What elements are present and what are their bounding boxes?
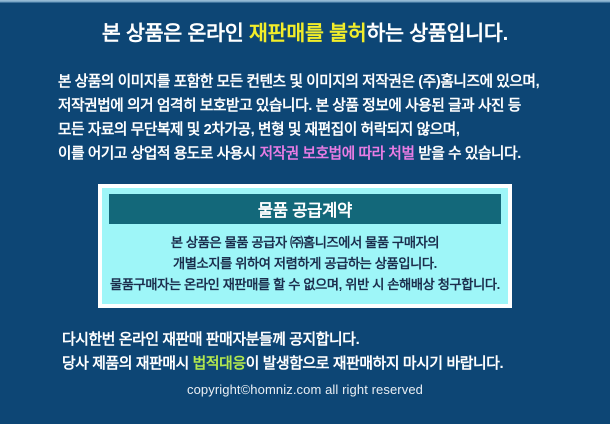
contract-body: 본 상품은 물품 공급자 ㈜홈니즈에서 물품 구매자의 개별소지를 위하여 저렴… [109, 232, 501, 295]
contract-title-bar: 물품 공급계약 [109, 194, 501, 224]
copyright-paragraph-line-4: 이를 어기고 상업적 용도로 사용시 저작권 보호법에 따라 처벌 받을 수 있… [58, 142, 558, 166]
closing-notice: 다시한번 온라인 재판매 판매자분들께 공지합니다. 당사 제품의 재판매시 법… [62, 328, 562, 376]
closing-notice-highlight: 법적대응 [193, 356, 246, 372]
top-divider-rule [0, 0, 610, 3]
closing-notice-line-2: 당사 제품의 재판매시 법적대응이 발생함으로 재판매하지 마시기 바랍니다. [62, 352, 562, 376]
page-headline: 본 상품은 온라인 재판매를 불허하는 상품입니다. [0, 20, 610, 48]
contract-title: 물품 공급계약 [258, 197, 352, 221]
paragraph-line-4-highlight: 저작권 보호법에 따라 처벌 [260, 146, 415, 162]
closing-notice-line-1: 다시한번 온라인 재판매 판매자분들께 공지합니다. [62, 328, 562, 352]
copyright-paragraph-line-3: 모든 자료의 무단복제 및 2차가공, 변형 및 재편집이 허락되지 않으며, [58, 118, 558, 142]
headline-highlight: 재판매를 불허 [249, 22, 366, 45]
paragraph-line-4-trailing: 받을 수 있습니다. [415, 146, 521, 162]
closing-notice-line-2-trailing: 이 발생함으로 재판매하지 마시기 바랍니다. [246, 356, 504, 372]
copyright-paragraph-line-1: 본 상품의 이미지를 포함한 모든 컨텐츠 및 이미지의 저작권은 (주)홈니즈… [58, 70, 558, 94]
headline-text-leading: 본 상품은 온라인 [102, 22, 249, 45]
closing-notice-line-2-leading: 당사 제품의 재판매시 [62, 356, 193, 372]
paragraph-line-4-leading: 이를 어기고 상업적 용도로 사용시 [58, 146, 260, 162]
contract-body-line-3: 물품구매자는 온라인 재판매를 할 수 없으며, 위반 시 손해배상 청구합니다… [109, 274, 501, 295]
headline-text-trailing: 하는 상품입니다. [366, 22, 508, 45]
copyright-paragraph: 본 상품의 이미지를 포함한 모든 컨텐츠 및 이미지의 저작권은 (주)홈니즈… [58, 70, 558, 166]
resale-prohibition-notice: 본 상품은 온라인 재판매를 불허하는 상품입니다. 본 상품의 이미지를 포함… [0, 0, 610, 424]
contract-body-line-1: 본 상품은 물품 공급자 ㈜홈니즈에서 물품 구매자의 [109, 232, 501, 253]
supply-contract-card: 물품 공급계약 본 상품은 물품 공급자 ㈜홈니즈에서 물품 구매자의 개별소지… [98, 184, 512, 308]
contract-body-line-2: 개별소지를 위하여 저렴하게 공급하는 상품입니다. [109, 253, 501, 274]
copyright-footer: copyright©homniz.com all right reserved [0, 382, 610, 397]
copyright-paragraph-line-2: 저작권법에 의거 엄격히 보호받고 있습니다. 본 상품 정보에 사용된 글과 … [58, 94, 558, 118]
